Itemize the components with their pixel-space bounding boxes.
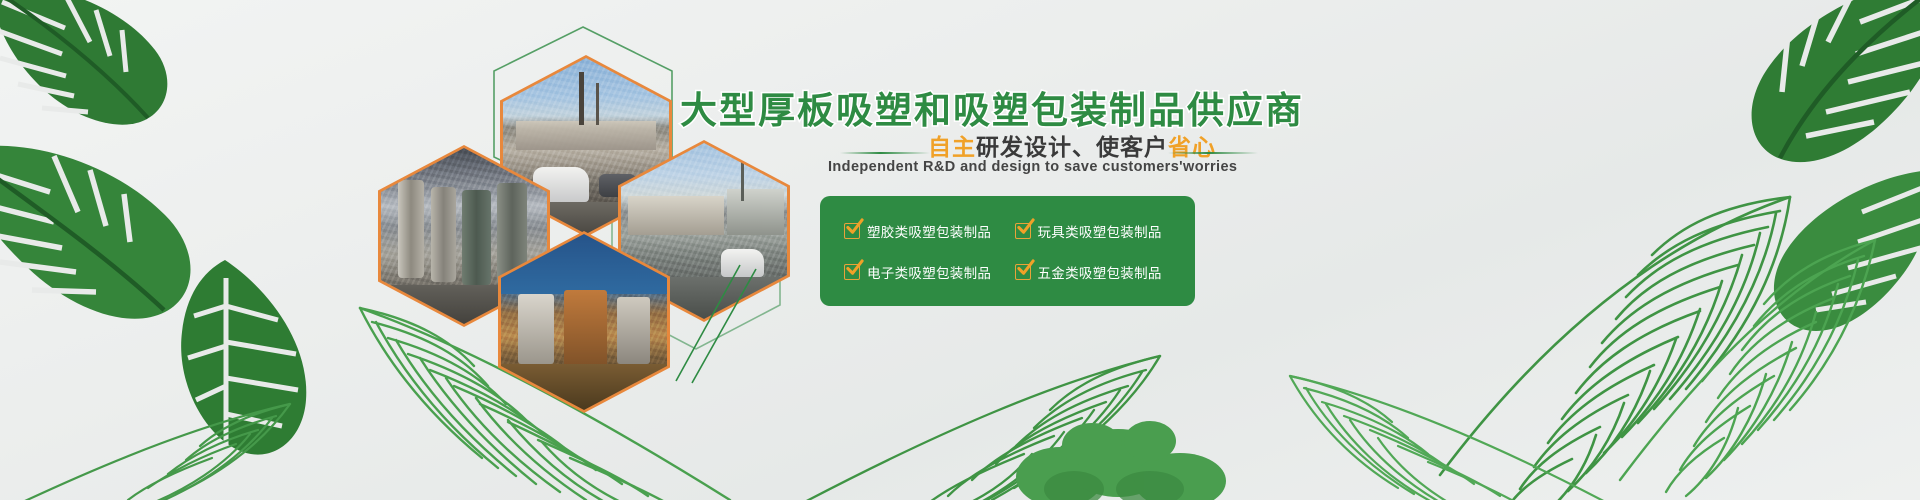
english-tagline: Independent R&D and design to save custo… [828,159,1237,175]
check-icon [1015,264,1031,280]
monstera-leaf-left-lower [0,120,250,380]
palm-frond-right [1380,185,1800,500]
promo-banner: 大型厚板吸塑和吸塑包装制品供应商 自主研发设计、使客户省心 Independen… [0,0,1920,500]
subtitle: 自主研发设计、使客户省心 [928,128,1216,162]
palm-frond-right-upper [1580,230,1880,500]
accent-lines [670,255,760,385]
feature-label: 五金类吸塑包装制品 [1038,262,1162,282]
divider-left [840,152,930,154]
feature-label: 塑胶类吸塑包装制品 [867,221,991,241]
check-icon [844,223,860,239]
palm-frond-bottom-far-left [0,400,300,500]
monstera-leaf-left-small [110,250,340,480]
feature-item-plastic[interactable]: 塑胶类吸塑包装制品 [844,210,1009,251]
monstera-leaf-left [0,0,230,210]
monstera-leaf-right-lower [1690,150,1920,380]
palm-frond-bottom-right [1280,370,1640,500]
shrub-bottom-center [1000,405,1260,500]
check-icon [844,264,860,280]
feature-item-hardware[interactable]: 五金类吸塑包装制品 [1015,251,1180,292]
feature-item-toys[interactable]: 玩具类吸塑包装制品 [1015,210,1180,251]
monstera-leaf-right [1660,0,1920,220]
page-title: 大型厚板吸塑和吸塑包装制品供应商 [680,80,1304,134]
product-category-panel: 塑胶类吸塑包装制品 玩具类吸塑包装制品 电子类吸塑包装制品 五金类吸塑包装制品 [820,196,1195,306]
divider-right [1168,152,1258,154]
palm-frond-bottom-center [760,350,1180,500]
subtitle-highlight-leading: 自主 [928,135,976,161]
feature-item-electronics[interactable]: 电子类吸塑包装制品 [844,251,1009,292]
subtitle-body: 研发设计、使客户 [976,135,1168,161]
check-icon [1015,223,1031,239]
feature-label: 电子类吸塑包装制品 [867,262,991,282]
subtitle-highlight-trailing: 省心 [1168,135,1216,161]
feature-label: 玩具类吸塑包装制品 [1038,221,1162,241]
